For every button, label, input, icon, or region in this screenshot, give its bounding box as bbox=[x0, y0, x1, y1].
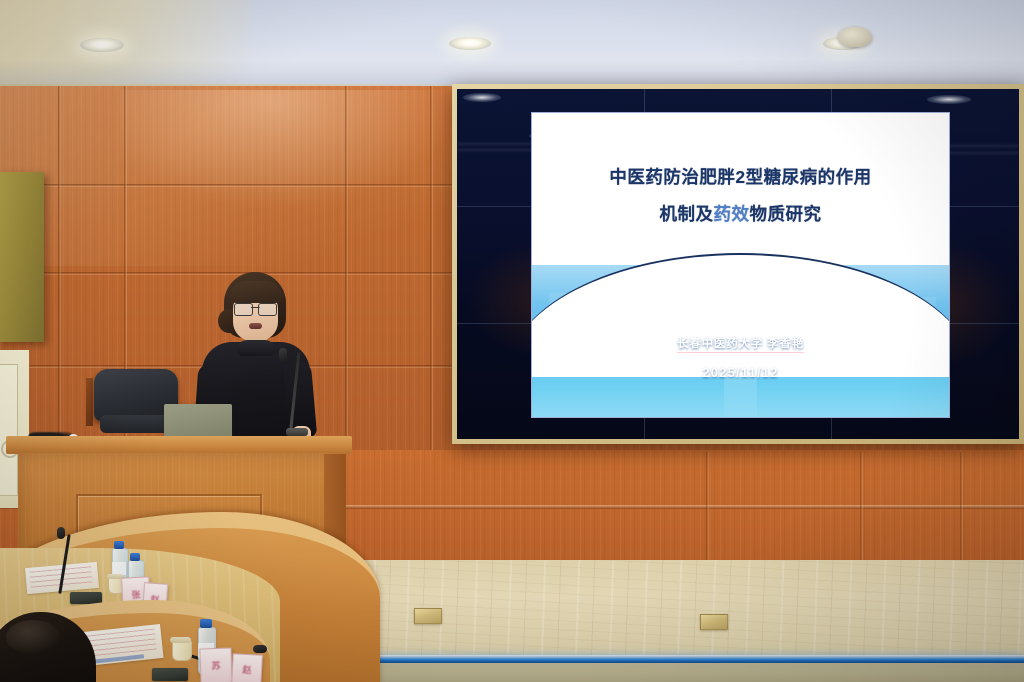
slide-date: 2025/11/12 bbox=[532, 365, 949, 380]
eyeglasses-icon bbox=[234, 303, 277, 314]
slide-presenter-line: 长春中医药大学 李香艳 bbox=[532, 335, 949, 351]
wainscot-groove bbox=[960, 452, 963, 564]
wainscot-groove bbox=[706, 452, 709, 564]
name-card-text: 张 bbox=[129, 589, 143, 601]
water-bottle-cap bbox=[130, 553, 140, 561]
slide-title-line-2-part-c: 物质研究 bbox=[750, 204, 822, 224]
ceiling-downlight-icon bbox=[80, 38, 124, 52]
podium-microphone-head bbox=[279, 348, 287, 362]
table-microphone-head bbox=[57, 527, 65, 539]
table-microphone-base[interactable] bbox=[152, 668, 188, 681]
screen-reflection bbox=[463, 93, 501, 102]
presenter-fringe bbox=[230, 281, 282, 303]
conference-hall-scene: 中医药防治肥胖2型糖尿病的作用 机制及药效物质研究 长春中医药大学 李香艳 20… bbox=[0, 0, 1024, 682]
name-card[interactable]: 苏 bbox=[199, 647, 232, 682]
ceiling-speaker-icon bbox=[838, 27, 872, 47]
wall-panel-groove bbox=[0, 184, 452, 187]
tea-cup-lid bbox=[170, 637, 191, 643]
podium-top-rail bbox=[6, 436, 352, 454]
name-card-text: 苏 bbox=[209, 660, 222, 671]
screen-reflection bbox=[927, 95, 971, 104]
wainscot-groove bbox=[860, 452, 863, 564]
name-card-text: 赵 bbox=[240, 664, 254, 676]
floor-outlet-cover[interactable] bbox=[414, 608, 442, 624]
wall-panel-groove bbox=[430, 86, 433, 452]
presentation-slide[interactable]: 中医药防治肥胖2型糖尿病的作用 机制及药效物质研究 长春中医药大学 李香艳 20… bbox=[531, 112, 950, 418]
floor-outlet-cover[interactable] bbox=[700, 614, 728, 630]
audience-head-highlight bbox=[6, 620, 60, 654]
table-microphone-head bbox=[253, 645, 267, 653]
slide-presenter-text: 长春中医药大学 李香艳 bbox=[677, 338, 804, 353]
slide-title-line-2: 机制及药效物质研究 bbox=[532, 196, 949, 233]
presenter-mouth bbox=[249, 323, 262, 329]
chair-leg bbox=[86, 378, 93, 426]
water-bottle-cap bbox=[114, 541, 124, 549]
water-bottle-cap bbox=[200, 619, 212, 628]
tea-cup[interactable] bbox=[172, 640, 192, 661]
ceiling-downlight-icon bbox=[449, 37, 491, 50]
slide-title: 中医药防治肥胖2型糖尿病的作用 机制及药效物质研究 bbox=[532, 159, 949, 233]
eyeglass-lens-left bbox=[234, 303, 253, 316]
turtleneck-collar bbox=[237, 340, 275, 356]
eyeglass-lens-right bbox=[258, 303, 277, 316]
slide-title-highlight: 药效 bbox=[714, 204, 750, 224]
wall-panel-groove bbox=[58, 86, 61, 452]
slide-title-line-1: 中医药防治肥胖2型糖尿病的作用 bbox=[532, 159, 949, 196]
name-card[interactable]: 赵 bbox=[231, 653, 263, 682]
framed-artwork bbox=[0, 172, 44, 342]
podium-microphone-base[interactable] bbox=[286, 428, 308, 436]
slide-title-line-2-part-a: 机制及 bbox=[660, 204, 714, 224]
wall-light-hotspot bbox=[120, 90, 460, 210]
laptop[interactable] bbox=[164, 404, 232, 440]
stage-riser-shadow bbox=[348, 663, 1024, 682]
wall-panel-groove bbox=[345, 86, 348, 452]
